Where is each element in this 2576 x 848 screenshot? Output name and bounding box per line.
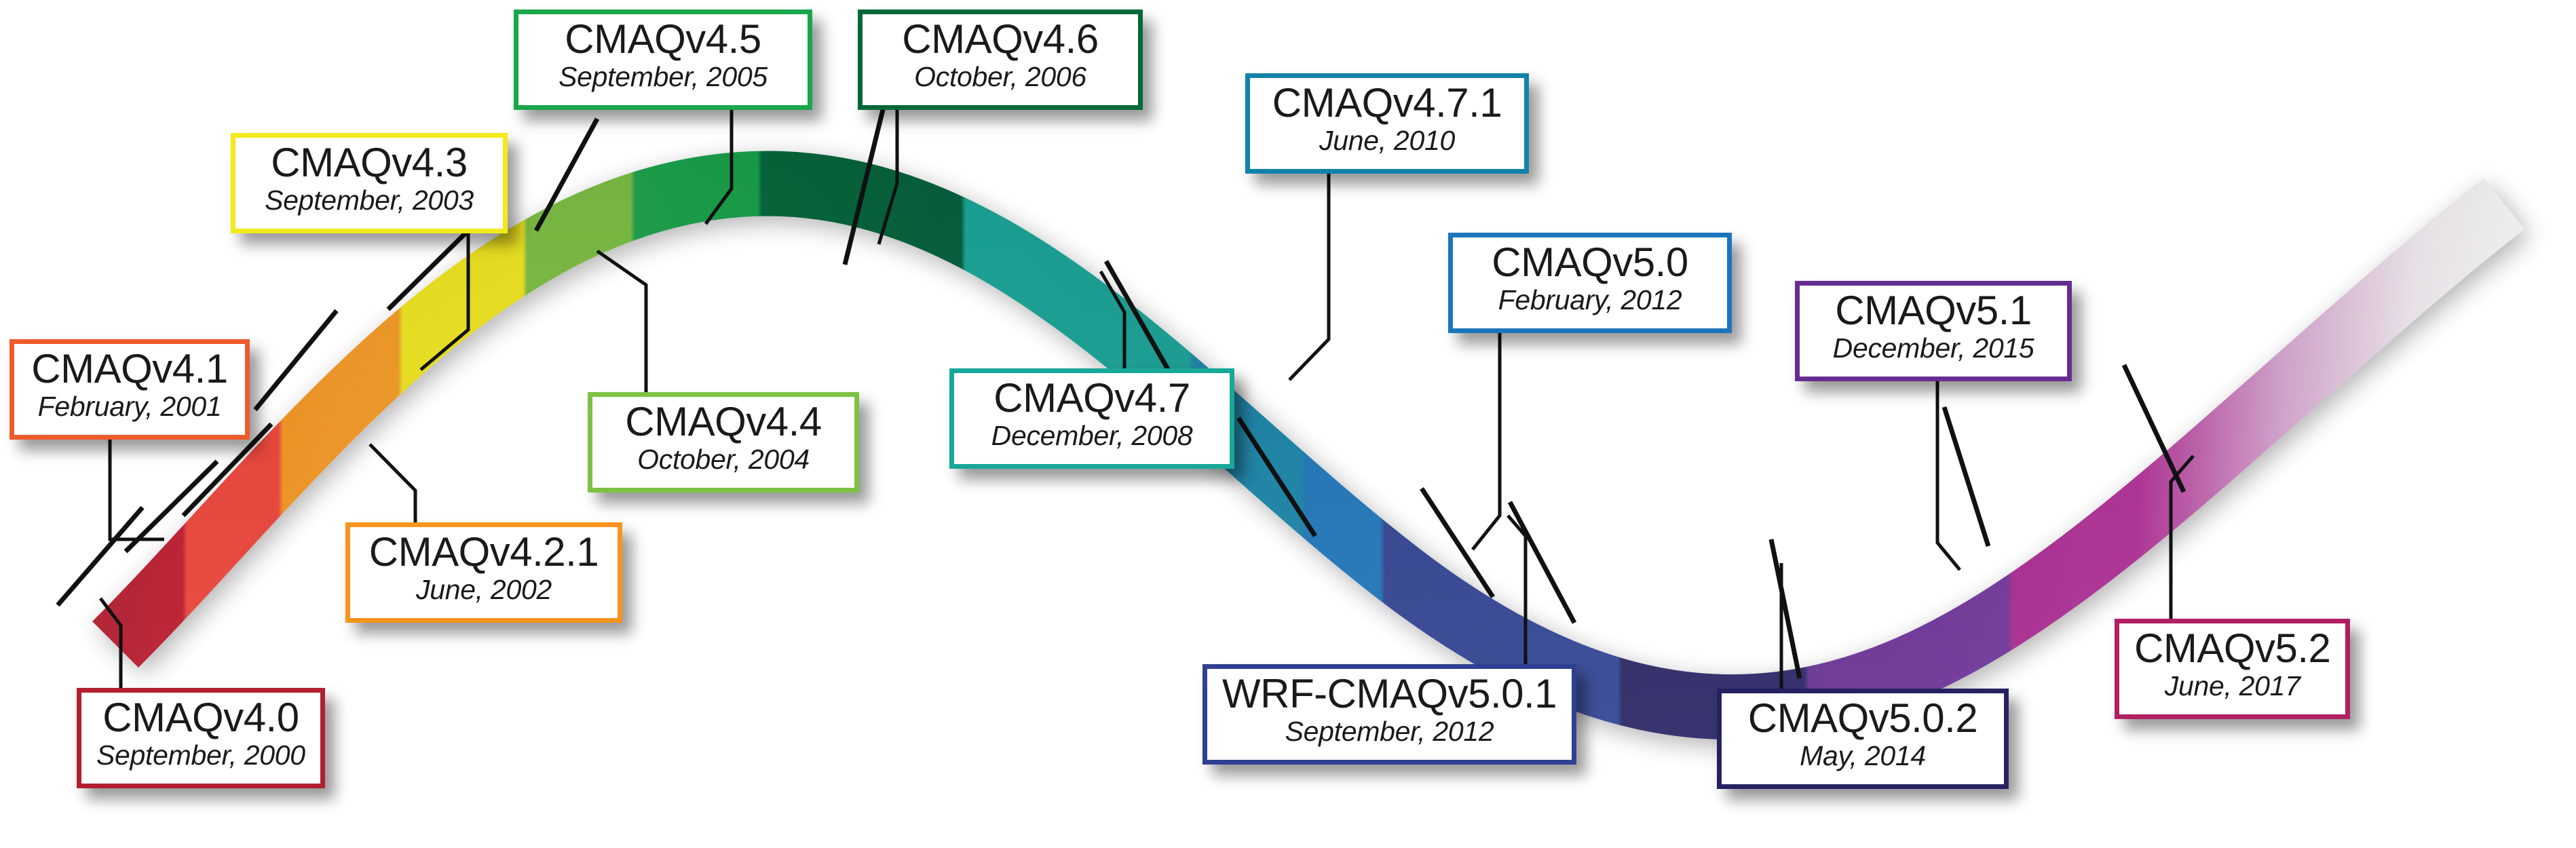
release-date: October, 2006: [877, 62, 1123, 93]
release-name: CMAQv5.1: [1815, 290, 2052, 332]
release-date: October, 2004: [607, 444, 839, 476]
release-label-cmaqv4.6[interactable]: CMAQv4.6October, 2006: [858, 9, 1143, 110]
release-date: June, 2017: [2134, 671, 2330, 702]
release-name: CMAQv5.0: [1468, 242, 1712, 284]
release-name: CMAQv4.7: [969, 377, 1215, 419]
release-label-cmaqv5.2[interactable]: CMAQv5.2June, 2017: [2115, 619, 2350, 719]
release-label-cmaqv5.0.2[interactable]: CMAQv5.0.2May, 2014: [1717, 689, 2009, 789]
release-label-cmaqv4.5[interactable]: CMAQv4.5September, 2005: [514, 9, 812, 110]
release-name: CMAQv4.4: [607, 401, 839, 443]
release-date: September, 2012: [1222, 716, 1557, 748]
release-label-cmaqv4.4[interactable]: CMAQv4.4October, 2004: [588, 392, 859, 493]
release-date: September, 2003: [250, 185, 488, 216]
release-date: June, 2010: [1265, 126, 1509, 157]
release-date: June, 2002: [365, 575, 603, 606]
release-label-cmaqv4.2.1[interactable]: CMAQv4.2.1June, 2002: [345, 522, 622, 623]
release-label-wrf-cmaqv5.0.1[interactable]: WRF-CMAQv5.0.1September, 2012: [1202, 664, 1576, 765]
release-label-cmaqv5.0[interactable]: CMAQv5.0February, 2012: [1448, 233, 1732, 333]
release-name: CMAQv5.2: [2134, 628, 2330, 670]
release-date: February, 2001: [29, 391, 230, 423]
release-date: May, 2014: [1737, 741, 1989, 772]
release-name: CMAQv4.2.1: [365, 531, 603, 573]
release-name: CMAQv4.7.1: [1265, 82, 1509, 124]
release-label-cmaqv5.1[interactable]: CMAQv5.1December, 2015: [1795, 281, 2072, 381]
release-name: CMAQv4.1: [29, 348, 230, 390]
release-label-cmaqv4.0[interactable]: CMAQv4.0September, 2000: [77, 688, 325, 788]
release-name: CMAQv5.0.2: [1737, 697, 1989, 739]
release-date: September, 2000: [96, 740, 305, 771]
release-name: CMAQv4.3: [250, 142, 488, 184]
timeline-diagram: CMAQv4.0September, 2000CMAQv4.1February,…: [0, 0, 2576, 848]
release-date: September, 2005: [533, 62, 793, 93]
release-label-cmaqv4.7[interactable]: CMAQv4.7December, 2008: [949, 368, 1234, 469]
release-name: CMAQv4.6: [877, 18, 1123, 60]
release-label-cmaqv4.1[interactable]: CMAQv4.1February, 2001: [10, 339, 250, 440]
release-date: December, 2008: [969, 421, 1215, 452]
release-name: CMAQv4.0: [96, 697, 305, 739]
release-name: WRF-CMAQv5.0.1: [1222, 673, 1557, 715]
release-name: CMAQv4.5: [533, 18, 793, 60]
release-label-cmaqv4.3[interactable]: CMAQv4.3September, 2003: [231, 133, 508, 233]
release-date: February, 2012: [1468, 285, 1712, 316]
release-label-cmaqv4.7.1[interactable]: CMAQv4.7.1June, 2010: [1245, 73, 1529, 174]
release-date: December, 2015: [1815, 333, 2052, 364]
